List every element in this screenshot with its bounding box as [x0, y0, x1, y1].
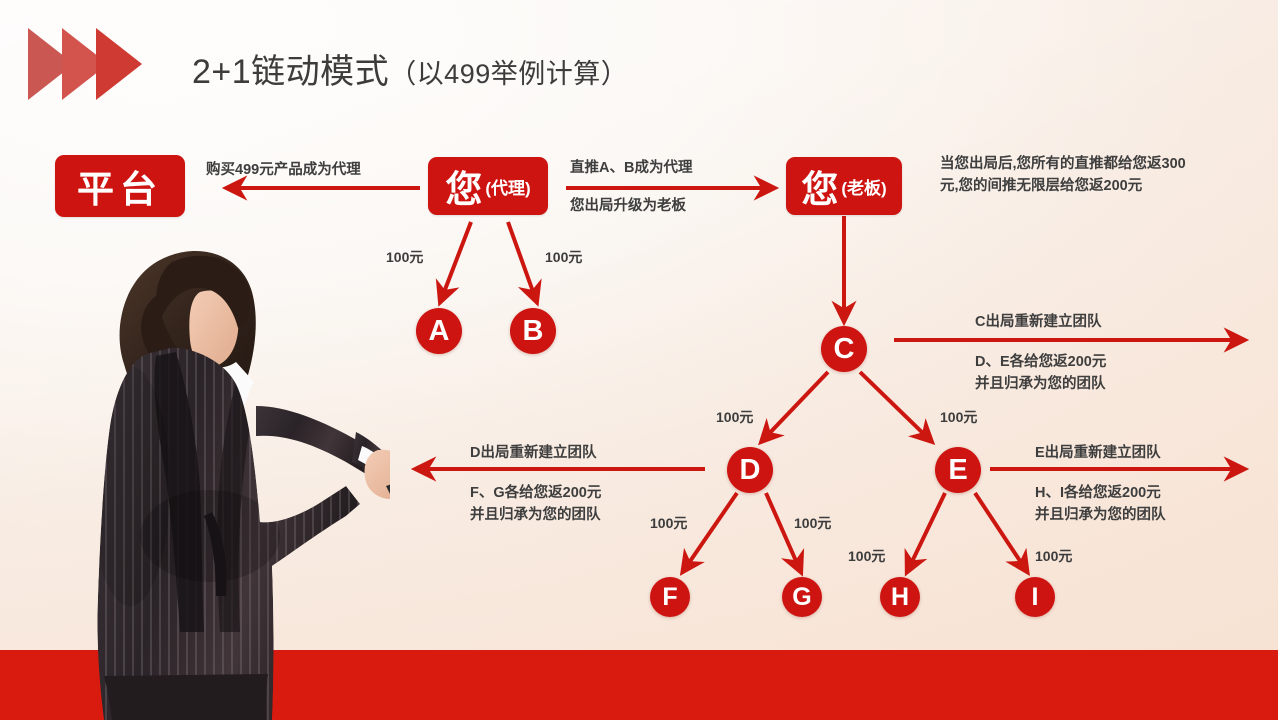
node-c-label: C: [834, 333, 855, 366]
node-d-label: D: [740, 454, 761, 487]
boss-box-label: 您: [801, 159, 840, 213]
label-e-rebate: H、I各给您返200元 并且归承为您的团队: [1035, 483, 1166, 527]
label-c-rebuild-team: C出局重新建立团队: [975, 312, 1101, 333]
node-g-label: G: [792, 583, 811, 612]
node-c[interactable]: C: [821, 326, 867, 372]
boss-box[interactable]: 您 (老板): [786, 157, 902, 215]
money-label-i: 100元: [1035, 546, 1072, 566]
money-label-h: 100元: [848, 546, 885, 566]
node-h[interactable]: H: [880, 577, 920, 617]
platform-box-label: 平台: [77, 159, 163, 213]
label-buy-to-become-agent: 购买499元产品成为代理: [206, 160, 361, 181]
money-label-e: 100元: [940, 407, 977, 427]
money-label-a: 100元: [386, 247, 423, 267]
label-upgrade-to-boss: 您出局升级为老板: [570, 196, 686, 217]
node-e-label: E: [948, 454, 967, 487]
boss-box-sublabel: (老板): [841, 174, 886, 199]
presenter-photo: [60, 236, 390, 720]
agent-box[interactable]: 您 (代理): [428, 157, 548, 215]
label-d-rebuild-team: D出局重新建立团队: [470, 443, 596, 464]
money-label-f: 100元: [650, 513, 687, 533]
node-h-label: H: [891, 583, 909, 612]
node-a[interactable]: A: [416, 308, 462, 354]
label-c-rebate: D、E各给您返200元 并且归承为您的团队: [975, 352, 1106, 396]
label-d-rebate: F、G各给您返200元 并且归承为您的团队: [470, 483, 601, 527]
node-i[interactable]: I: [1015, 577, 1055, 617]
node-a-label: A: [429, 315, 450, 348]
money-label-d: 100元: [716, 407, 753, 427]
platform-box[interactable]: 平台: [55, 155, 185, 217]
slide-canvas: 2+1链动模式（以499举例计算）: [0, 0, 1278, 720]
agent-box-label: 您: [445, 159, 484, 213]
node-f[interactable]: F: [650, 577, 690, 617]
node-g[interactable]: G: [782, 577, 822, 617]
agent-box-sublabel: (代理): [485, 174, 530, 199]
money-label-g: 100元: [794, 513, 831, 533]
node-f-label: F: [662, 583, 677, 612]
label-e-rebuild-team: E出局重新建立团队: [1035, 443, 1161, 464]
label-direct-push: 直推A、B成为代理: [570, 158, 692, 179]
money-label-b: 100元: [545, 247, 582, 267]
node-e[interactable]: E: [935, 447, 981, 493]
node-b-label: B: [523, 315, 544, 348]
label-boss-rebate-note: 当您出局后,您所有的直推都给您返300元,您的间推无限层给您返200元: [940, 154, 1188, 198]
node-i-label: I: [1032, 583, 1039, 612]
node-d[interactable]: D: [727, 447, 773, 493]
node-b[interactable]: B: [510, 308, 556, 354]
